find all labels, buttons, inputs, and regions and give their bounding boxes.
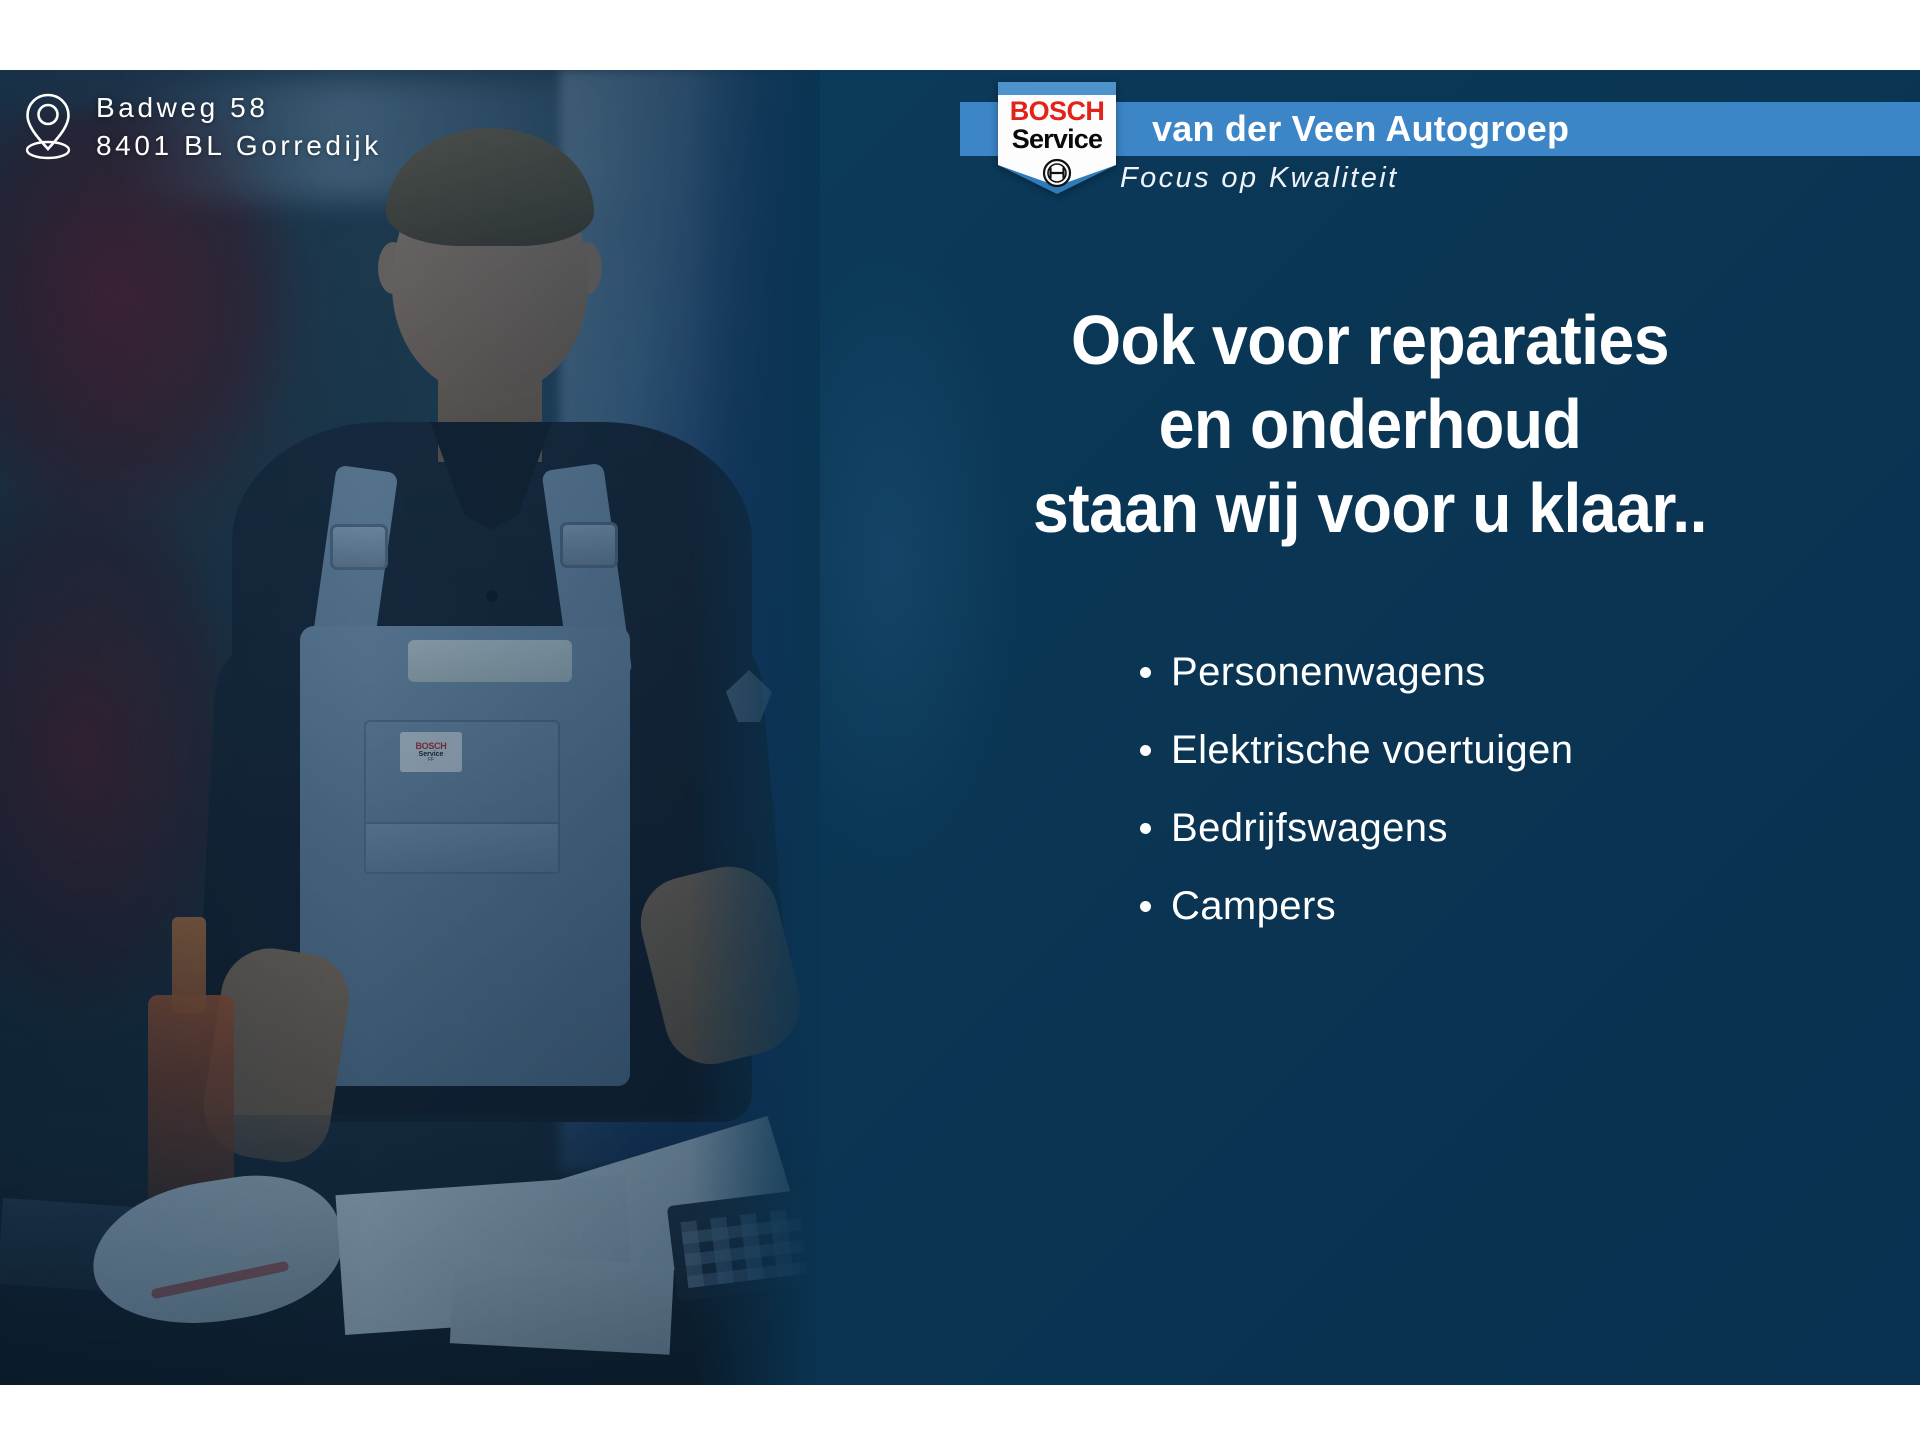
list-item: Bedrijfswagens	[1140, 806, 1600, 851]
feature-label: Campers	[1171, 884, 1336, 929]
headline-line-3: staan wij voor u klaar..	[864, 466, 1876, 550]
map-pin-icon	[22, 92, 74, 162]
list-item: Elektrische voertuigen	[1140, 728, 1600, 773]
photo-edge-fade	[690, 70, 820, 1385]
feature-label: Personenwagens	[1171, 650, 1486, 695]
bosch-wordmark: BOSCH	[998, 98, 1116, 125]
bosch-armature-icon	[1040, 158, 1074, 188]
bullet-dot-icon	[1140, 667, 1151, 678]
address-city: 8401 BL Gorredijk	[96, 130, 382, 162]
headline-line-2: en onderhoud	[864, 382, 1876, 466]
list-item: Campers	[1140, 884, 1600, 929]
address-block: Badweg 58 8401 BL Gorredijk	[22, 88, 382, 162]
company-tagline: Focus op Kwaliteit	[1120, 162, 1399, 195]
address-street: Badweg 58	[96, 92, 382, 124]
bullet-dot-icon	[1140, 823, 1151, 834]
feature-list: Personenwagens Elektrische voertuigen Be…	[820, 650, 1920, 929]
list-item: Personenwagens	[1140, 650, 1600, 695]
company-name: van der Veen Autogroep	[1152, 106, 1569, 152]
content-band: BOSCH Service FF	[0, 70, 1920, 1385]
bosch-service-shield-icon: BOSCH Service	[998, 82, 1116, 194]
mechanic-photo: BOSCH Service FF	[0, 70, 820, 1385]
info-panel: BOSCH Service van der Veen Autogroep Foc…	[820, 70, 1920, 1385]
headline-line-1: Ook voor reparaties	[864, 298, 1876, 382]
bullet-dot-icon	[1140, 745, 1151, 756]
bullet-dot-icon	[1140, 901, 1151, 912]
address-lines: Badweg 58 8401 BL Gorredijk	[96, 88, 382, 162]
shield-top-band	[998, 82, 1116, 95]
feature-label: Bedrijfswagens	[1171, 806, 1448, 851]
service-wordmark: Service	[998, 126, 1116, 153]
feature-label: Elektrische voertuigen	[1171, 728, 1573, 773]
headline: Ook voor reparaties en onderhoud staan w…	[864, 298, 1876, 550]
advertisement-canvas: BOSCH Service FF	[0, 0, 1920, 1440]
